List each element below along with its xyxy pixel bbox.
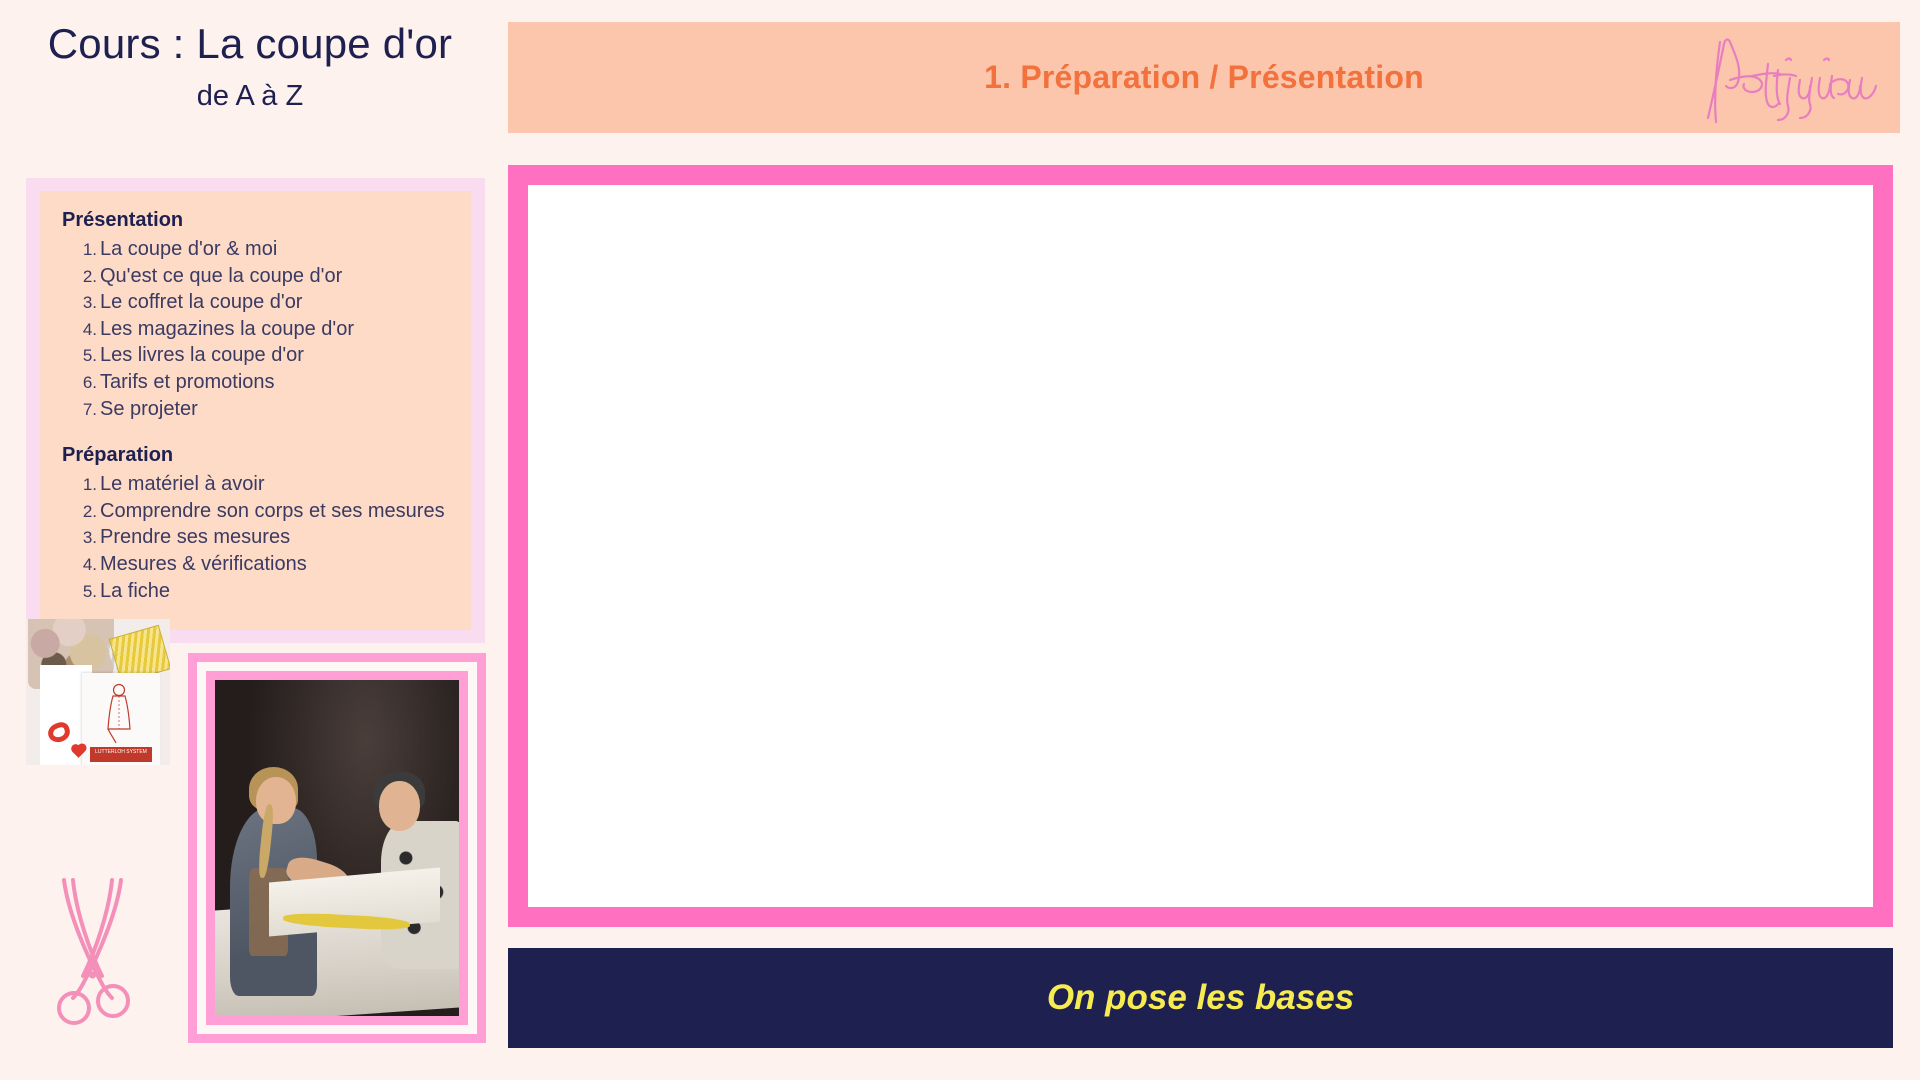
list-item[interactable]: 4. Les magazines la coupe d'or	[62, 316, 449, 343]
toc-item-label: La coupe d'or & moi	[100, 236, 277, 263]
toc-item-number: 1.	[76, 474, 97, 497]
toc-item-number: 1.	[76, 239, 97, 262]
toc-item-label: Tarifs et promotions	[100, 369, 275, 396]
toc-item-label: Mesures & vérifications	[100, 551, 307, 578]
toc-item-number: 6.	[76, 372, 97, 395]
toc-item-number: 4.	[76, 554, 97, 577]
header-title: 1. Préparation / Présentation	[984, 59, 1424, 96]
list-item[interactable]: 2. Qu'est ce que la coupe d'or	[62, 263, 449, 290]
content-area[interactable]	[528, 185, 1873, 907]
toc-item-label: Comprendre son corps et ses mesures	[100, 498, 445, 525]
toc-item-label: Les magazines la coupe d'or	[100, 316, 354, 343]
header-banner: 1. Préparation / Présentation	[508, 22, 1900, 133]
workshop-photo	[215, 680, 459, 1016]
toc-inner-panel: Présentation 1. La coupe d'or & moi 2. Q…	[40, 191, 471, 630]
toc-item-label: Les livres la coupe d'or	[100, 342, 304, 369]
toc-item-label: La fiche	[100, 578, 170, 605]
footer-text: On pose les bases	[1047, 978, 1354, 1018]
toc-item-label: Se projeter	[100, 396, 198, 423]
toc-item-label: Prendre ses mesures	[100, 524, 290, 551]
toc-item-label: Qu'est ce que la coupe d'or	[100, 263, 342, 290]
list-item[interactable]: 6. Tarifs et promotions	[62, 369, 449, 396]
workshop-photo-frame	[188, 653, 486, 1043]
toc-section-heading: Préparation	[62, 444, 449, 467]
list-item[interactable]: 3. Le coffret la coupe d'or	[62, 289, 449, 316]
toc-item-label: Le matériel à avoir	[100, 471, 265, 498]
toc-item-number: 3.	[76, 292, 97, 315]
toc-section-presentation: Présentation 1. La coupe d'or & moi 2. Q…	[62, 209, 449, 422]
list-item[interactable]: 5. La fiche	[62, 578, 449, 605]
toc-section-heading: Présentation	[62, 209, 449, 232]
list-item[interactable]: 1. La coupe d'or & moi	[62, 236, 449, 263]
scissors-icon	[40, 872, 145, 1027]
footer-banner: On pose les bases	[508, 948, 1893, 1048]
signature-logo	[1690, 30, 1890, 125]
list-item[interactable]: 4. Mesures & vérifications	[62, 551, 449, 578]
dress-figure-icon	[102, 683, 136, 745]
toc-item-number: 4.	[76, 319, 97, 342]
list-item[interactable]: 7. Se projeter	[62, 396, 449, 423]
toc-section-preparation: Préparation 1. Le matériel à avoir 2. Co…	[62, 444, 449, 604]
left-sidebar: Cours : La coupe d'or de A à Z Présentat…	[0, 0, 500, 1080]
toc-item-number: 3.	[76, 527, 97, 550]
list-item[interactable]: 3. Prendre ses mesures	[62, 524, 449, 551]
toc-item-label: Le coffret la coupe d'or	[100, 289, 302, 316]
page-subtitle: de A à Z	[0, 80, 500, 113]
toc-list-presentation: 1. La coupe d'or & moi 2. Qu'est ce que …	[62, 236, 449, 422]
toc-item-number: 2.	[76, 266, 97, 289]
toc-item-number: 7.	[76, 399, 97, 422]
toc-item-number: 5.	[76, 581, 97, 604]
book-and-tape-photo: LUTTERLOH SYSTEM	[26, 619, 170, 765]
list-item[interactable]: 2. Comprendre son corps et ses mesures	[62, 498, 449, 525]
toc-item-number: 2.	[76, 501, 97, 524]
list-item[interactable]: 1. Le matériel à avoir	[62, 471, 449, 498]
content-frame	[508, 165, 1893, 927]
page-title: Cours : La coupe d'or	[0, 22, 500, 67]
list-item[interactable]: 5. Les livres la coupe d'or	[62, 342, 449, 369]
toc-list-preparation: 1. Le matériel à avoir 2. Comprendre son…	[62, 471, 449, 604]
toc-item-number: 5.	[76, 345, 97, 368]
table-of-contents: Présentation 1. La coupe d'or & moi 2. Q…	[26, 178, 485, 643]
book-logo-text: LUTTERLOH SYSTEM	[90, 747, 152, 762]
